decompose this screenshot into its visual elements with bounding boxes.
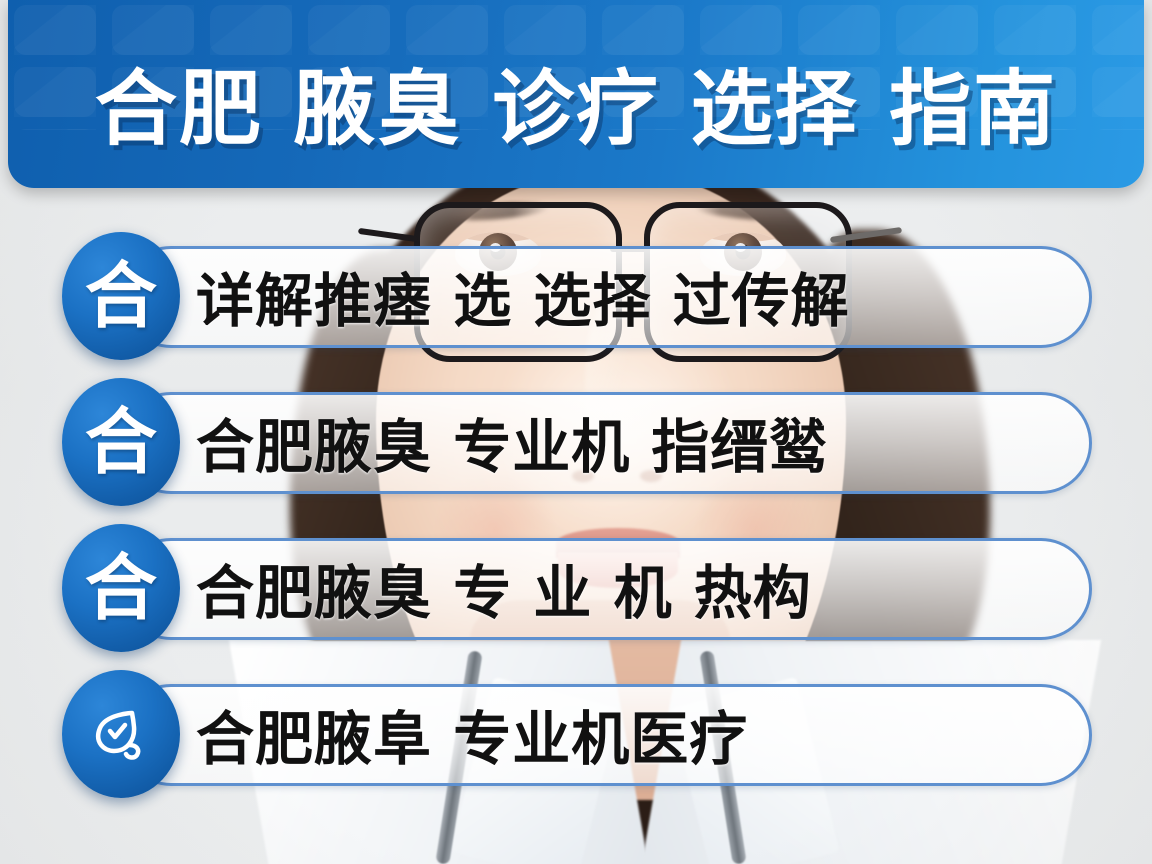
bullet-list: 合 详解推瘗 选 选择 过传解 合 合肥腋臭 专业机 指缙𬸚 合 合肥腋臭 专 …	[0, 232, 1152, 816]
badge-label: 合	[85, 260, 157, 332]
list-item-label: 合肥腋臭 专业机 指缙𬸚	[196, 378, 828, 506]
badge-label: 合	[85, 552, 157, 624]
list-item[interactable]: 合 合肥腋臭 专 业 机 热构	[0, 524, 1152, 652]
he-character-badge: 合	[62, 378, 180, 506]
leaf-drop-check-magnifier-glyph	[84, 697, 158, 771]
list-item[interactable]: 合 合肥腋臭 专业机 指缙𬸚	[0, 378, 1152, 506]
he-character-badge: 合	[62, 524, 180, 652]
page-title: 合肥 腋臭 诊疗 选择 指南	[8, 42, 1144, 161]
leaf-drop-check-magnifier-icon	[62, 670, 180, 798]
list-item-label: 合肥腋臭 专 业 机 热构	[196, 524, 812, 652]
list-item-label: 详解推瘗 选 选择 过传解	[196, 232, 850, 360]
list-item[interactable]: 合 详解推瘗 选 选择 过传解	[0, 232, 1152, 360]
list-item[interactable]: 合肥腋阜 专业机医疗	[0, 670, 1152, 798]
badge-label: 合	[85, 406, 157, 478]
poster: 合肥 腋臭 诊疗 选择 指南 合 详解推瘗 选 选择 过传解 合 合肥腋臭 专业…	[0, 0, 1152, 864]
list-item-label: 合肥腋阜 专业机医疗	[196, 670, 748, 798]
he-character-badge: 合	[62, 232, 180, 360]
header-banner: 合肥 腋臭 诊疗 选择 指南	[8, 0, 1144, 188]
